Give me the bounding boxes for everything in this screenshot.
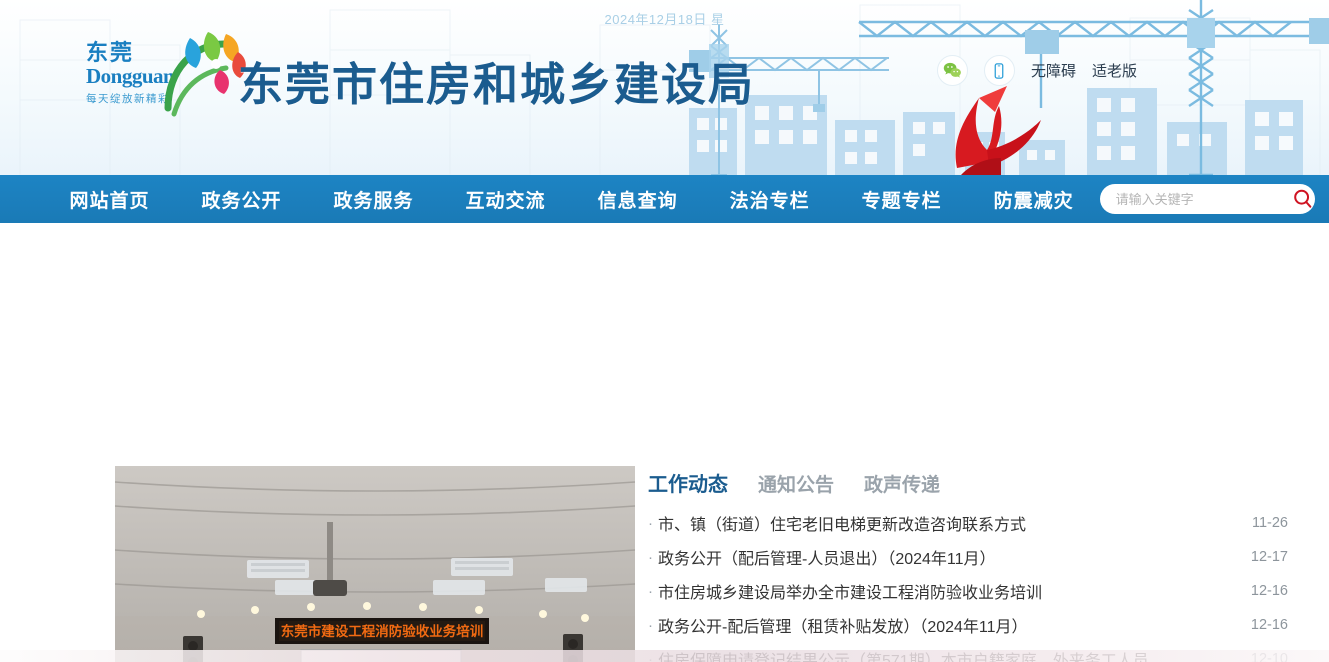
page-title: 东莞市住房和城乡建设局 [238, 48, 755, 113]
mobile-icon[interactable] [984, 55, 1015, 86]
nav-item-info-query[interactable]: 信息查询 [572, 186, 704, 213]
image-carousel[interactable]: 东莞市建设工程消防验收业务培训 东莞市建设工程消防验收 业务培训 [115, 466, 635, 662]
nav-item-affairs-service[interactable]: 政务服务 [308, 186, 440, 213]
carousel-photo: 东莞市建设工程消防验收业务培训 东莞市建设工程消防验收 业务培训 [115, 466, 635, 662]
current-date: 2024年12月18日 星 [0, 9, 1329, 28]
main-navigation: 网站首页 政务公开 政务服务 互动交流 信息查询 法治专栏 专题专栏 防震减灾 [0, 175, 1329, 223]
news-list: · 市、镇（街道）住宅老旧电梯更新改造咨询联系方式 11-26 · 政务公开（配… [648, 506, 1288, 662]
news-item[interactable]: · 市、镇（街道）住宅老旧电梯更新改造咨询联系方式 11-26 [648, 506, 1288, 540]
tab-work-updates[interactable]: 工作动态 [648, 468, 728, 497]
site-header: 2024年12月18日 星 东莞 Dongguan 每天绽放新精彩 东莞市住房和… [0, 0, 1329, 175]
accessibility-link[interactable]: 无障碍 [1031, 60, 1076, 81]
news-panel: 工作动态 通知公告 政声传递 · 市、镇（街道）住宅老旧电梯更新改造咨询联系方式… [648, 463, 1288, 662]
bullet-icon: · [648, 516, 653, 531]
wechat-icon[interactable] [937, 55, 968, 86]
news-item-title: 政务公开（配后管理-人员退出）（2024年11月） [658, 545, 996, 569]
search-icon[interactable] [1292, 188, 1314, 210]
news-item-title: 市住房城乡建设局举办全市建设工程消防验收业务培训 [658, 579, 1042, 603]
search-input[interactable] [1116, 192, 1292, 207]
main-content: 东莞市建设工程消防验收业务培训 东莞市建设工程消防验收 业务培训 [0, 223, 1329, 662]
news-item-date: 12-16 [1251, 617, 1288, 633]
news-item-title: 政务公开-配后管理（租赁补贴发放）（2024年11月） [658, 613, 1028, 637]
news-item-date: 12-16 [1251, 583, 1288, 599]
news-item[interactable]: · 市住房城乡建设局举办全市建设工程消防验收业务培训 12-16 [648, 574, 1288, 608]
news-tabs: 工作动态 通知公告 政声传递 [648, 463, 1288, 497]
bullet-icon: · [648, 550, 653, 565]
nav-item-interaction[interactable]: 互动交流 [440, 186, 572, 213]
search-box [1100, 184, 1315, 214]
bullet-icon: · [648, 584, 653, 599]
page-root: 2024年12月18日 星 东莞 Dongguan 每天绽放新精彩 东莞市住房和… [0, 0, 1329, 662]
news-item[interactable]: · 政务公开-配后管理（租赁补贴发放）（2024年11月） 12-16 [648, 608, 1288, 642]
news-item-title: 市、镇（街道）住宅老旧电梯更新改造咨询联系方式 [658, 511, 1026, 535]
nav-item-home[interactable]: 网站首页 [50, 186, 176, 213]
nav-item-affairs-disclosure[interactable]: 政务公开 [176, 186, 308, 213]
news-item[interactable]: · 政务公开（配后管理-人员退出）（2024年11月） 12-17 [648, 540, 1288, 574]
nav-item-earthquake-relief[interactable]: 防震减灾 [968, 186, 1100, 213]
header-tools: 无障碍 适老版 [937, 55, 1137, 86]
nav-item-special-topics[interactable]: 专题专栏 [836, 186, 968, 213]
news-item-date: 11-26 [1252, 515, 1288, 531]
elderly-mode-link[interactable]: 适老版 [1092, 60, 1137, 81]
nav-item-rule-of-law[interactable]: 法治专栏 [704, 186, 836, 213]
svg-text:东莞市建设工程消防验收业务培训: 东莞市建设工程消防验收业务培训 [281, 623, 484, 639]
tab-announcements[interactable]: 通知公告 [758, 470, 834, 497]
bullet-icon: · [648, 618, 653, 633]
news-item-date: 12-17 [1251, 549, 1288, 565]
bottom-image-strip [0, 650, 1329, 662]
tab-govt-voice[interactable]: 政声传递 [864, 470, 940, 497]
